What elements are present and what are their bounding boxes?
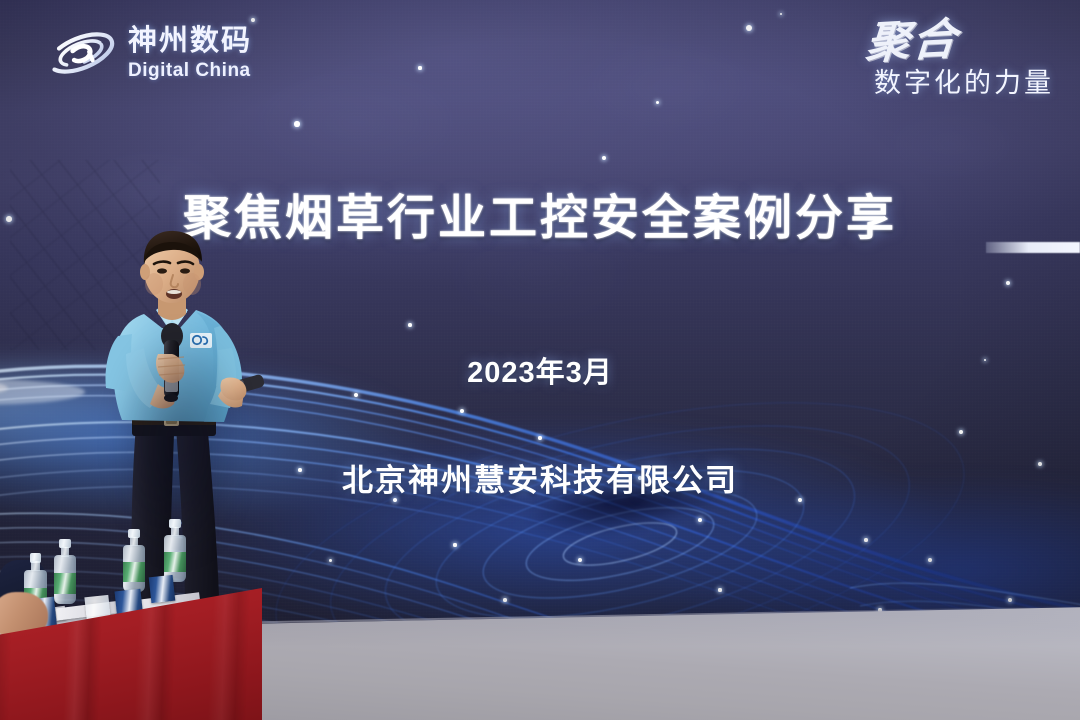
brand-name-cn: 神州数码 — [128, 27, 252, 56]
name-card — [149, 575, 176, 603]
event-slogan: 聚合 数字化的力量 — [866, 20, 1054, 97]
water-bottle — [123, 530, 145, 592]
water-bottle — [54, 540, 76, 604]
swirl-galaxy-logo-icon — [44, 22, 118, 84]
digital-china-wordmark: 神州数码 Digital China — [128, 27, 252, 80]
head-table — [0, 560, 264, 720]
water-bottle — [164, 520, 186, 582]
conference-stage-photo: 神州数码 Digital China 聚合 数字化的力量 聚焦烟草行业工控安全案… — [0, 0, 1080, 720]
slogan-brush-text: 聚合 — [864, 18, 960, 67]
brand-name-en: Digital China — [128, 61, 252, 80]
digital-china-logo: 神州数码 Digital China — [44, 22, 252, 84]
slogan-subtitle: 数字化的力量 — [866, 70, 1054, 97]
screen-edge-light-bar — [986, 242, 1080, 253]
